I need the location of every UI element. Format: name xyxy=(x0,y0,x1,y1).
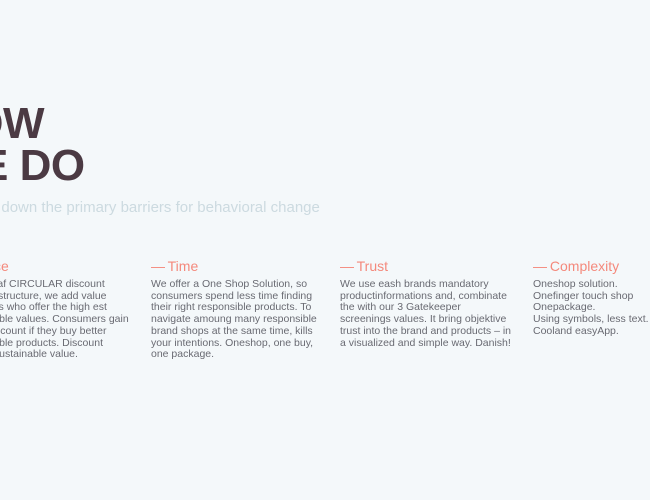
column-complexity-heading: — Complexity xyxy=(533,258,650,274)
column-complexity-dash-icon: — xyxy=(533,258,546,274)
column-price-heading-label: Price xyxy=(0,258,9,274)
page-subtitle: Breaking down the primary barriers for b… xyxy=(0,198,650,218)
column-price: — Price Instead af CIRCULAR discount per… xyxy=(0,258,115,361)
column-time-heading-label: Time xyxy=(168,258,199,274)
body-line: brand shops at the same time, kills xyxy=(151,326,311,338)
column-trust-body: We use eash brands mandatory productinfo… xyxy=(340,279,503,349)
column-price-heading: — Price xyxy=(0,258,115,274)
column-trust-heading-label: Trust xyxy=(357,258,388,274)
column-time-body: We offer a One Shop Solution, so consume… xyxy=(151,279,311,361)
body-line: Instead af CIRCULAR discount xyxy=(0,279,115,291)
body-line: Cooland easyApp. xyxy=(533,326,650,338)
column-time: — Time We offer a One Shop Solution, so … xyxy=(151,258,311,361)
column-trust-dash-icon: — xyxy=(340,258,353,274)
body-line: We offer a One Shop Solution, so xyxy=(151,279,311,291)
heading-block: HOWWE DO xyxy=(0,104,650,186)
column-complexity-body: Oneshop solution. Onefinger touch shop O… xyxy=(533,279,650,338)
body-line: one package. xyxy=(151,349,311,361)
page-title-line-2: WE DO xyxy=(0,146,650,186)
column-time-heading: — Time xyxy=(151,258,311,274)
column-trust-heading: — Trust xyxy=(340,258,503,274)
page-title: HOWWE DO xyxy=(0,104,650,186)
body-line: Oneshop solution. xyxy=(533,279,650,291)
column-complexity: — Complexity Oneshop solution. Onefinger… xyxy=(533,258,650,338)
barrier-columns: — Price Instead af CIRCULAR discount per… xyxy=(0,258,650,388)
body-line: a visualized and simple way. Danish! xyxy=(340,338,503,350)
body-line: equals sustainable value. xyxy=(0,349,115,361)
column-time-dash-icon: — xyxy=(151,258,164,274)
body-line: We use eash brands mandatory xyxy=(340,279,503,291)
column-trust: — Trust We use eash brands mandatory pro… xyxy=(340,258,503,349)
slide-canvas: HOWWE DO Breaking down the primary barri… xyxy=(0,0,650,500)
column-price-body: Instead af CIRCULAR discount percent str… xyxy=(0,279,115,361)
body-line: more discount if they buy better xyxy=(0,326,115,338)
column-complexity-heading-label: Complexity xyxy=(550,258,619,274)
body-line: trust into the brand and products – in xyxy=(340,326,503,338)
